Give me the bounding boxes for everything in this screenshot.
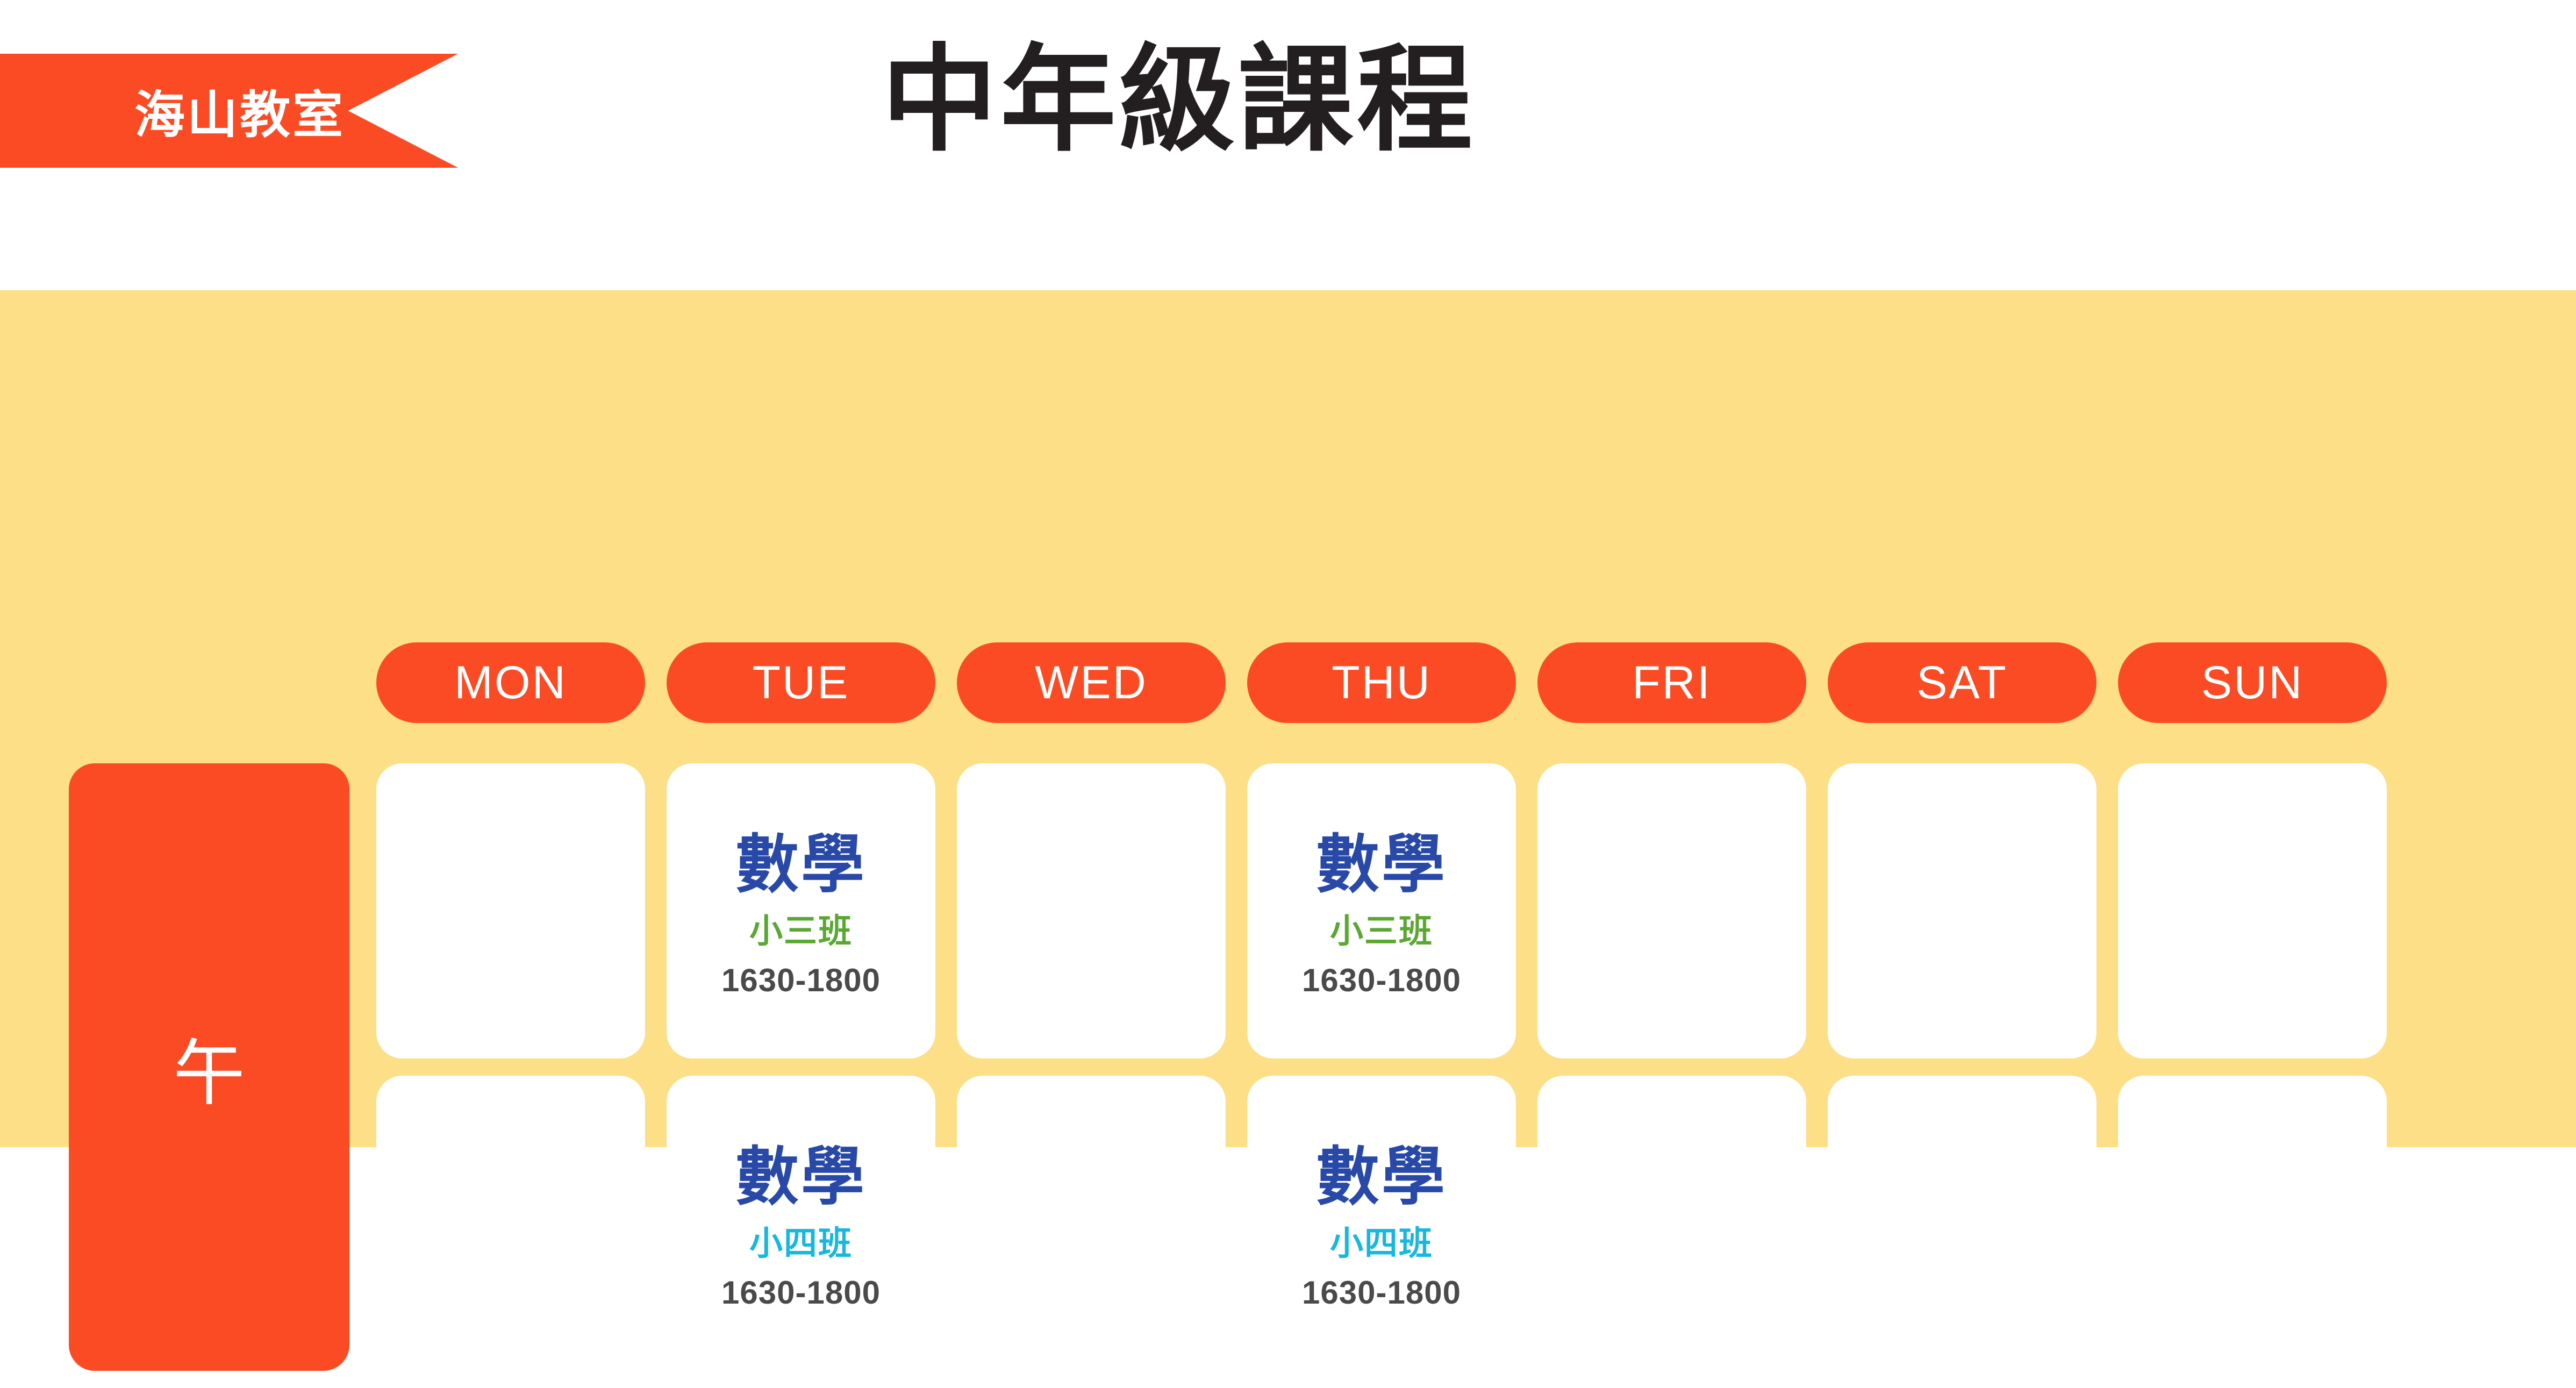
day-pill-sun[interactable]: SUN [2118,642,2387,723]
day-pill-sat[interactable]: SAT [1828,642,2096,723]
course-subject: 數學 [735,1141,867,1214]
schedule-cell-course[interactable]: 數學小三班1630-1800 [1247,763,1516,1058]
schedule-row: 數學小三班1630-1800數學小三班1630-1800 [376,763,2387,1058]
schedule-cell-course[interactable]: 數學小三班1630-1800 [667,763,935,1058]
schedule-cell-empty[interactable] [957,1076,1226,1371]
schedule-cell-empty[interactable] [1828,763,2096,1058]
schedule-cell-empty[interactable] [1537,763,1806,1058]
schedule-row: 數學小四班1630-1800數學小四班1630-1800 [376,1076,2387,1371]
schedule-cells: 數學小三班1630-1800數學小三班1630-1800數學小四班1630-18… [376,763,2387,1388]
schedule-cell-empty[interactable] [957,763,1226,1058]
page-header: 海山教室 中年級課程 [0,0,2576,290]
course-subject: 數學 [1316,829,1447,902]
course-class-name: 小三班 [749,913,853,950]
page-title: 中年級課程 [882,28,1476,173]
schedule-cell-empty[interactable] [2118,1076,2387,1371]
course-subject: 數學 [1316,1141,1447,1214]
day-header-row: MONTUEWEDTHUFRISATSUN [376,642,2387,723]
course-class-name: 小四班 [1330,1226,1433,1262]
course-time: 1630-1800 [721,963,881,998]
day-pill-mon[interactable]: MON [376,642,645,723]
course-class-name: 小三班 [1330,913,1433,950]
day-pill-thu[interactable]: THU [1247,642,1516,723]
day-pill-tue[interactable]: TUE [667,642,935,723]
course-subject: 數學 [735,829,867,902]
day-pill-fri[interactable]: FRI [1537,642,1806,723]
schedule-cell-course[interactable]: 數學小四班1630-1800 [667,1076,935,1371]
schedule-cell-empty[interactable] [2118,763,2387,1058]
schedule-cell-empty[interactable] [376,763,645,1058]
schedule-cell-empty[interactable] [376,1076,645,1371]
schedule-cell-empty[interactable] [1828,1076,2096,1371]
course-time: 1630-1800 [1302,963,1461,998]
classroom-badge-label: 海山教室 [134,74,345,147]
period-label-afternoon: 午 [69,763,349,1371]
classroom-badge: 海山教室 [0,54,458,168]
schedule-cell-empty[interactable] [1537,1076,1806,1371]
course-time: 1630-1800 [1302,1275,1461,1311]
schedule-panel: MONTUEWEDTHUFRISATSUN 午 數學小三班1630-1800數學… [0,290,2576,1147]
schedule-cell-course[interactable]: 數學小四班1630-1800 [1247,1076,1516,1371]
course-time: 1630-1800 [721,1275,881,1311]
course-class-name: 小四班 [749,1226,853,1262]
day-pill-wed[interactable]: WED [957,642,1226,723]
